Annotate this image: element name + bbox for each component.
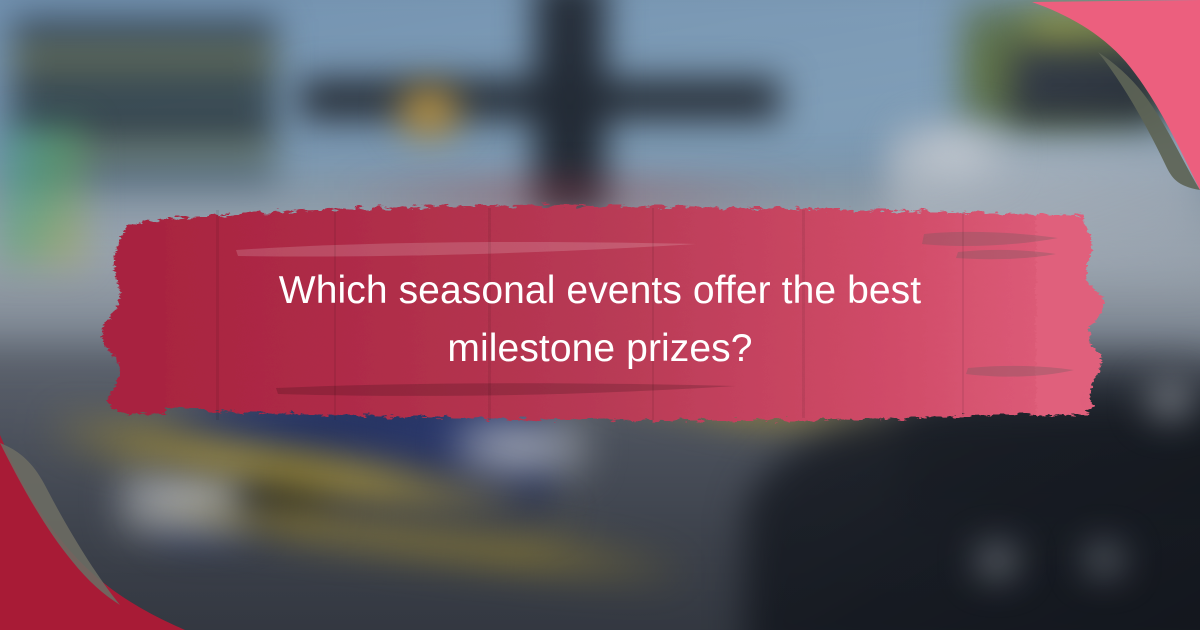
headline-line-1: Which seasonal events offer the best <box>150 262 1050 320</box>
page-title: Which seasonal events offer the best mil… <box>150 262 1050 378</box>
headline-line-2: milestone prizes? <box>150 320 1050 378</box>
promo-banner-canvas: Which seasonal events offer the best mil… <box>0 0 1200 630</box>
